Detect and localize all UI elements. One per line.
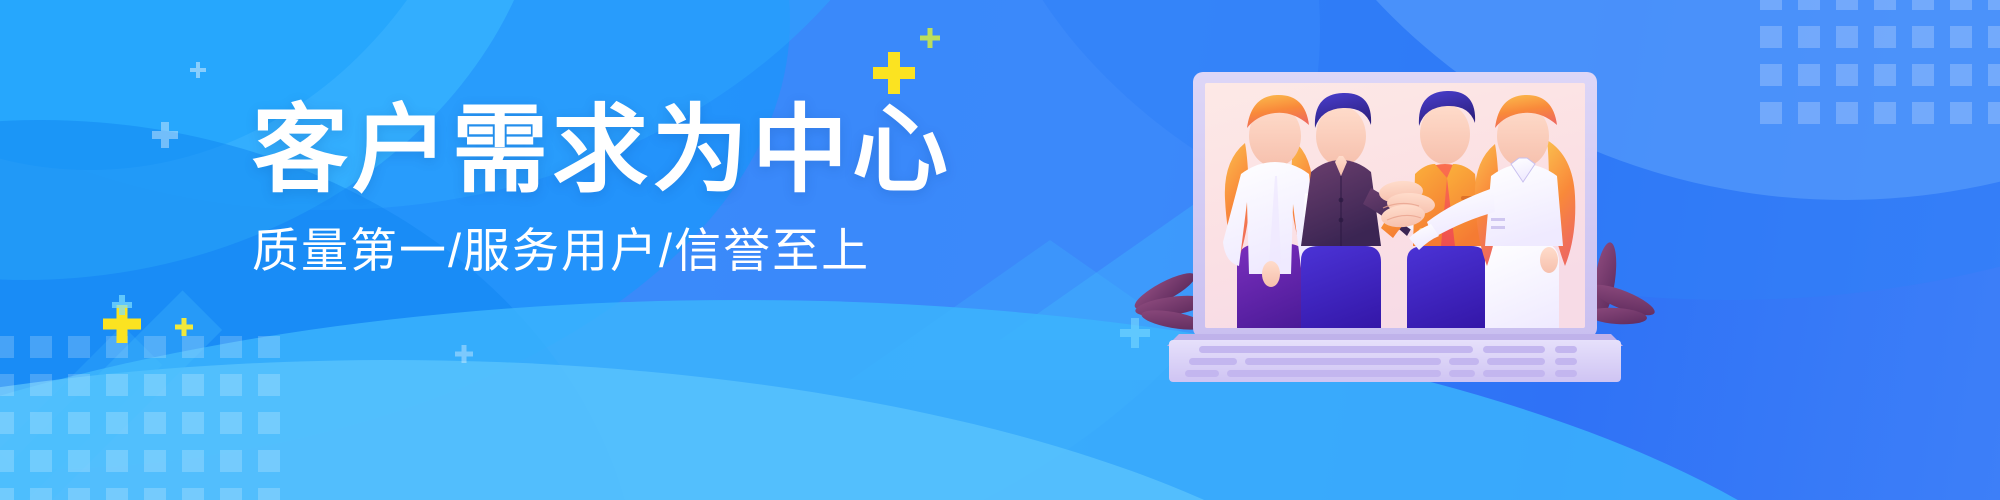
dot <box>1760 102 1782 124</box>
dot <box>220 450 242 472</box>
dot <box>258 450 280 472</box>
dot <box>1950 102 1972 124</box>
dot <box>68 488 90 500</box>
dot <box>1798 0 1820 10</box>
dot <box>1798 102 1820 124</box>
dot <box>106 412 128 434</box>
dot <box>1836 64 1858 86</box>
dot <box>0 374 14 396</box>
dot <box>1836 102 1858 124</box>
dot <box>30 412 52 434</box>
dot <box>30 450 52 472</box>
dot <box>1874 102 1896 124</box>
dot <box>144 336 166 358</box>
dot <box>1836 26 1858 48</box>
dot <box>220 374 242 396</box>
dot <box>220 488 242 500</box>
dot-grid-bottom-left <box>0 336 280 500</box>
dot <box>106 374 128 396</box>
dot <box>1874 64 1896 86</box>
dot <box>258 374 280 396</box>
dot <box>220 336 242 358</box>
dot <box>144 450 166 472</box>
dot <box>1760 0 1782 10</box>
promo-banner: 客户需求为中心 质量第一/服务用户/信誉至上 <box>0 0 2000 500</box>
dot <box>68 374 90 396</box>
dot <box>0 412 14 434</box>
dot <box>68 412 90 434</box>
dot <box>1760 26 1782 48</box>
dot <box>1798 26 1820 48</box>
laptop-team-illustration <box>1175 48 1615 348</box>
plus-icon-yellow-small-bottom <box>175 318 193 336</box>
dot <box>0 336 14 358</box>
dot <box>1912 64 1934 86</box>
banner-headline: 客户需求为中心 <box>252 103 952 199</box>
dot <box>182 412 204 434</box>
dot <box>1874 0 1896 10</box>
dot <box>144 488 166 500</box>
dot <box>1760 64 1782 86</box>
dot <box>1874 26 1896 48</box>
dot <box>1988 26 2000 48</box>
dot <box>30 488 52 500</box>
dot <box>1912 0 1934 10</box>
dot <box>144 374 166 396</box>
dot <box>0 450 14 472</box>
plus-icon-white-center <box>455 345 473 363</box>
banner-text-block: 客户需求为中心 质量第一/服务用户/信誉至上 <box>252 103 952 277</box>
dot <box>1988 0 2000 10</box>
dot <box>182 450 204 472</box>
banner-subtitle: 质量第一/服务用户/信誉至上 <box>252 225 952 277</box>
dot <box>1950 0 1972 10</box>
dot <box>1988 102 2000 124</box>
dot <box>1950 64 1972 86</box>
plus-icon-yellow-large-top <box>873 52 915 94</box>
dot <box>1912 102 1934 124</box>
dot <box>182 488 204 500</box>
dot <box>182 336 204 358</box>
dot <box>258 336 280 358</box>
dot <box>144 412 166 434</box>
dot <box>30 336 52 358</box>
background-wave-bottom <box>0 300 1940 500</box>
dot <box>0 488 14 500</box>
dot <box>220 412 242 434</box>
plus-icon-white-top-small <box>190 62 206 78</box>
plus-icon-cyan-bottom-left <box>112 295 132 315</box>
dot <box>258 488 280 500</box>
dot <box>1988 64 2000 86</box>
dot <box>68 336 90 358</box>
dot <box>1950 26 1972 48</box>
dot-grid-top-right <box>1760 0 2000 124</box>
leaf-cluster-right <box>1587 241 1658 326</box>
dot <box>182 374 204 396</box>
dot <box>106 488 128 500</box>
dot <box>68 450 90 472</box>
dot <box>106 450 128 472</box>
plus-icon-yellow-small-top <box>920 28 940 48</box>
dot <box>1798 64 1820 86</box>
plus-icon-cyan-center <box>1120 318 1150 348</box>
dot <box>1836 0 1858 10</box>
plus-icon-white-top <box>152 122 178 148</box>
dot <box>258 412 280 434</box>
dot <box>1912 26 1934 48</box>
dot <box>30 374 52 396</box>
